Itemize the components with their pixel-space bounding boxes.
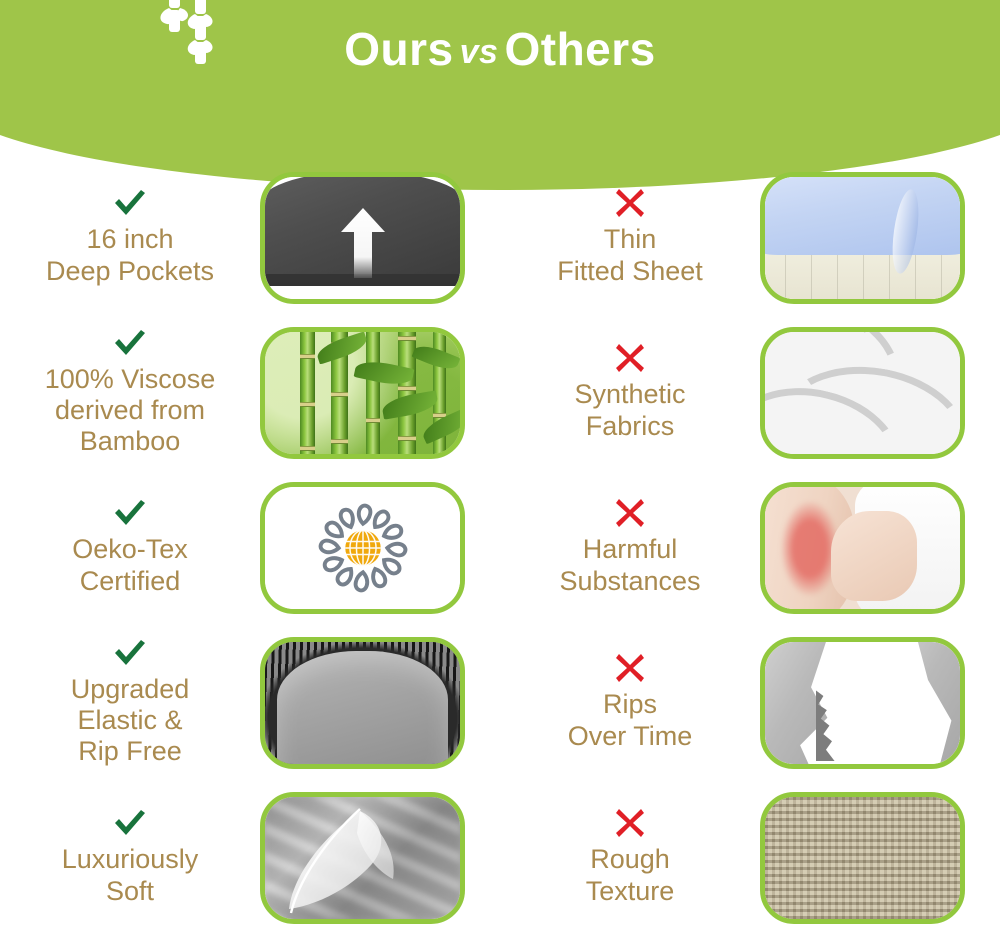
ours-label-cell: 16 inch Deep Pockets — [0, 188, 260, 287]
burlap-texture-image — [760, 792, 965, 924]
check-icon — [113, 498, 147, 528]
title-others: Others — [504, 23, 655, 75]
ours-column-cell: 16 inch Deep Pockets — [0, 160, 500, 315]
comparison-row: Oeko-Tex Certified — [0, 470, 1000, 625]
cross-icon — [615, 498, 645, 528]
check-icon — [113, 188, 147, 218]
others-column-cell: Synthetic Fabrics — [500, 315, 1000, 470]
thin-fitted-sheet-image — [760, 172, 965, 304]
ours-label-cell: Luxuriously Soft — [0, 808, 260, 907]
ours-label-text: 16 inch Deep Pockets — [46, 224, 214, 287]
others-label-cell: Rough Texture — [500, 808, 760, 907]
elastic-sheet-corner-image — [260, 637, 465, 769]
others-label-text: Thin Fitted Sheet — [557, 224, 703, 287]
title-ours: Ours — [344, 23, 453, 75]
ours-label-text: Upgraded Elastic & Rip Free — [71, 674, 190, 768]
others-label-text: Rips Over Time — [568, 689, 693, 752]
others-label-cell: Thin Fitted Sheet — [500, 188, 760, 287]
ours-label-text: Oeko-Tex Certified — [72, 534, 188, 597]
others-label-cell: Rips Over Time — [500, 653, 760, 752]
comparison-row: 100% Viscose derived from Bamboo — [0, 315, 1000, 470]
others-label-text: Synthetic Fabrics — [574, 379, 685, 442]
comparison-grid: 16 inch Deep Pockets — [0, 160, 1000, 935]
ours-column-cell: 100% Viscose derived from Bamboo — [0, 315, 500, 470]
bamboo-stalks-image — [260, 327, 465, 459]
others-label-text: Harmful Substances — [559, 534, 700, 597]
others-label-cell: Harmful Substances — [500, 498, 760, 597]
feather-on-silk-image — [260, 792, 465, 924]
ours-column-cell: Oeko-Tex Certified — [0, 470, 500, 625]
others-label-text: Rough Texture — [586, 844, 675, 907]
others-label-cell: Synthetic Fabrics — [500, 343, 760, 442]
ours-label-cell: Oeko-Tex Certified — [0, 498, 260, 597]
comparison-row: Luxuriously Soft — [0, 780, 1000, 935]
feather-shape — [265, 797, 465, 924]
others-column-cell: Rips Over Time — [500, 625, 1000, 780]
check-icon — [113, 638, 147, 668]
others-column-cell: Rough Texture — [500, 780, 1000, 935]
check-icon — [113, 808, 147, 838]
check-icon — [113, 328, 147, 358]
others-column-cell: Harmful Substances — [500, 470, 1000, 625]
cross-icon — [615, 653, 645, 683]
skin-irritation-image — [760, 482, 965, 614]
ours-column-cell: Luxuriously Soft — [0, 780, 500, 935]
ours-label-cell: Upgraded Elastic & Rip Free — [0, 638, 260, 768]
ours-label-cell: 100% Viscose derived from Bamboo — [0, 328, 260, 458]
ripped-fabric-image — [760, 637, 965, 769]
title-vs: vs — [454, 33, 505, 71]
cross-icon — [615, 808, 645, 838]
ours-label-text: Luxuriously Soft — [62, 844, 199, 907]
comparison-row: Upgraded Elastic & Rip Free Rips Over Ti… — [0, 625, 1000, 780]
others-column-cell: Thin Fitted Sheet — [500, 160, 1000, 315]
up-arrow-icon — [340, 208, 386, 278]
synthetic-fabric-image — [760, 327, 965, 459]
ours-label-text: 100% Viscose derived from Bamboo — [45, 364, 216, 458]
comparison-row: 16 inch Deep Pockets — [0, 160, 1000, 315]
deep-pocket-mattress-image — [260, 172, 465, 304]
ours-column-cell: Upgraded Elastic & Rip Free — [0, 625, 500, 780]
oeko-tex-certification-logo — [260, 482, 465, 614]
page-title: OursvsOthers — [0, 22, 1000, 76]
cross-icon — [615, 188, 645, 218]
cross-icon — [615, 343, 645, 373]
